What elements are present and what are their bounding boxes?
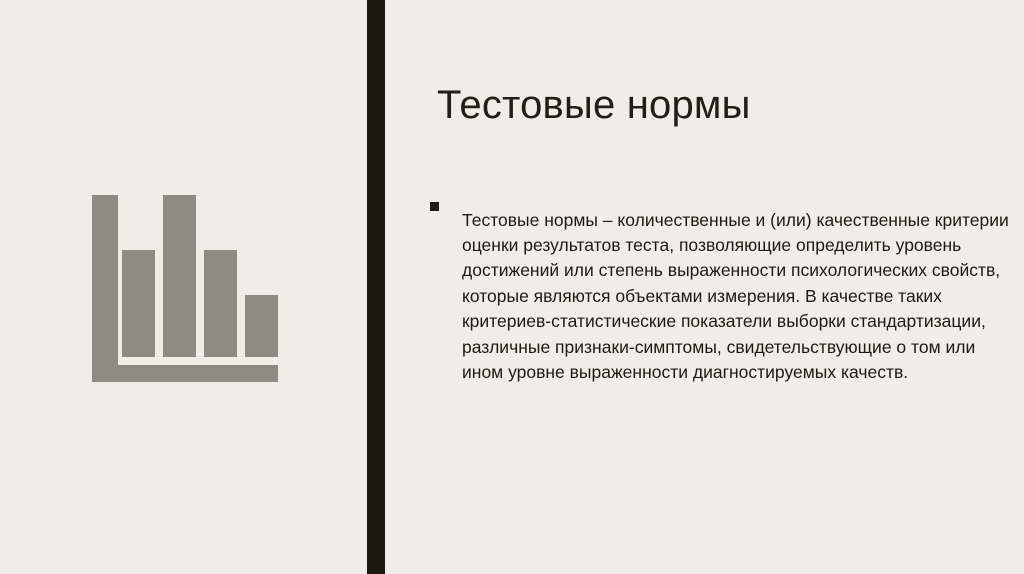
chart-bar-4 xyxy=(245,295,278,357)
chart-vertical-axis xyxy=(92,195,118,382)
page-title: Тестовые нормы xyxy=(437,80,997,130)
chart-bar-1 xyxy=(122,250,155,357)
bullet-list-item: Тестовые нормы – количественные и (или) … xyxy=(430,190,1010,403)
slide-canvas: Тестовые нормы Тестовые нормы – количест… xyxy=(0,0,1024,574)
left-panel xyxy=(0,0,367,574)
square-bullet-icon xyxy=(430,202,439,211)
chart-horizontal-axis xyxy=(92,365,278,382)
chart-bar-2 xyxy=(163,195,196,357)
vertical-divider xyxy=(367,0,385,574)
body-paragraph: Тестовые нормы – количественные и (или) … xyxy=(462,208,1010,386)
chart-bar-3 xyxy=(204,250,237,357)
bar-chart-icon xyxy=(92,195,278,382)
right-panel: Тестовые нормы Тестовые нормы – количест… xyxy=(385,0,1024,574)
